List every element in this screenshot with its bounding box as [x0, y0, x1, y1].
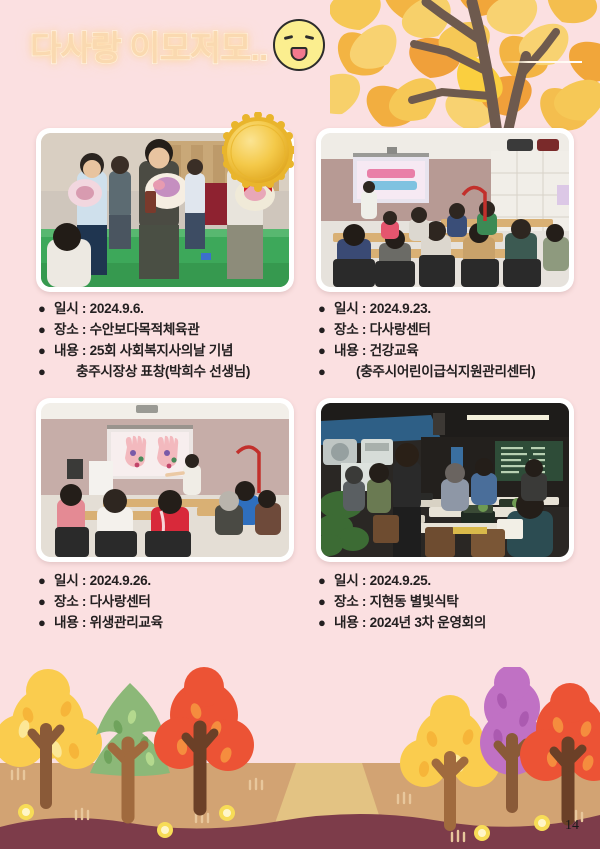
ginkgo-leaves-cluster: [330, 0, 600, 140]
bullet-icon: ●: [38, 319, 54, 340]
caption-text: 내용 : 25회 사회복지사의날 기념: [54, 340, 308, 361]
caption-line: ● 일시 : 2024.9.26.: [38, 570, 308, 591]
caption-text: 장소 : 다사랑센터: [334, 319, 590, 340]
bullet-icon: ●: [38, 298, 54, 319]
caption-text: 일시 : 2024.9.26.: [54, 570, 308, 591]
bottom-autumn-scene: [0, 667, 600, 849]
caption-text: 장소 : 수안보다목적체육관: [54, 319, 308, 340]
decorative-hairline: [500, 61, 582, 63]
caption-text: 내용 : 건강교육: [334, 340, 590, 361]
bullet-icon: ●: [318, 591, 334, 612]
caption-text: 충주시장상 표창(박희수 선생님): [54, 361, 308, 382]
bullet-icon: ●: [318, 340, 334, 361]
caption-text: 장소 : 지현동 별빛식탁: [334, 591, 590, 612]
caption-entry-2: ● 일시 : 2024.9.23. ● 장소 : 다사랑센터 ● 내용 : 건강…: [318, 298, 590, 382]
caption-line: ● 일시 : 2024.9.6.: [38, 298, 308, 319]
award-seal-badge: [222, 112, 294, 200]
bullet-icon: ●: [318, 319, 334, 340]
caption-line: ● 일시 : 2024.9.25.: [318, 570, 590, 591]
caption-text: 일시 : 2024.9.23.: [334, 298, 590, 319]
page-title: 다사랑 이모저모..: [30, 19, 325, 71]
caption-line: ● (충주시어린이급식지원관리센터): [318, 361, 590, 382]
bullet-icon: ●: [38, 591, 54, 612]
caption-entry-1: ● 일시 : 2024.9.6. ● 장소 : 수안보다목적체육관 ● 내용 :…: [38, 298, 308, 382]
photo-health-education: [321, 133, 569, 287]
photo-restaurant-meeting: [321, 403, 569, 557]
bullet-icon: ●: [318, 298, 334, 319]
caption-line: ● 장소 : 수안보다목적체육관: [38, 319, 308, 340]
caption-text: 장소 : 다사랑센터: [54, 591, 308, 612]
caption-text: 일시 : 2024.9.6.: [54, 298, 308, 319]
photo-hygiene-education: [41, 403, 289, 557]
bullet-icon: ●: [318, 361, 334, 382]
photo-card-2: [316, 128, 574, 292]
caption-entry-4: ● 일시 : 2024.9.25. ● 장소 : 지현동 별빛식탁 ● 내용 :…: [318, 570, 590, 633]
caption-text: 내용 : 2024년 3차 운영회의: [334, 612, 590, 633]
photo-card-3: [36, 398, 294, 562]
page-title-text: 다사랑 이모저모..: [30, 21, 267, 70]
caption-line: ● 충주시장상 표창(박희수 선생님): [38, 361, 308, 382]
bullet-icon: ●: [38, 612, 54, 633]
ginkgo-tree-decoration: [330, 0, 600, 140]
photo-card-4: [316, 398, 574, 562]
caption-line: ● 내용 : 위생관리교육: [38, 612, 308, 633]
caption-entry-3: ● 일시 : 2024.9.26. ● 장소 : 다사랑센터 ● 내용 : 위생…: [38, 570, 308, 633]
seal-disc: [222, 112, 294, 192]
caption-line: ● 일시 : 2024.9.23.: [318, 298, 590, 319]
bullet-icon: ●: [38, 340, 54, 361]
caption-line: ● 내용 : 25회 사회복지사의날 기념: [38, 340, 308, 361]
caption-line: ● 장소 : 다사랑센터: [38, 591, 308, 612]
page-number: 14: [565, 818, 579, 834]
caption-line: ● 내용 : 건강교육: [318, 340, 590, 361]
caption-line: ● 장소 : 지현동 별빛식탁: [318, 591, 590, 612]
bullet-icon: ●: [38, 570, 54, 591]
bullet-icon: ●: [318, 570, 334, 591]
bullet-icon: ●: [318, 612, 334, 633]
caption-text: 일시 : 2024.9.25.: [334, 570, 590, 591]
smiley-face-icon: [273, 19, 325, 71]
caption-line: ● 내용 : 2024년 3차 운영회의: [318, 612, 590, 633]
bullet-icon: ●: [38, 361, 54, 382]
caption-text: (충주시어린이급식지원관리센터): [334, 361, 590, 382]
caption-text: 내용 : 위생관리교육: [54, 612, 308, 633]
caption-line: ● 장소 : 다사랑센터: [318, 319, 590, 340]
tree-branches: [412, 2, 556, 140]
